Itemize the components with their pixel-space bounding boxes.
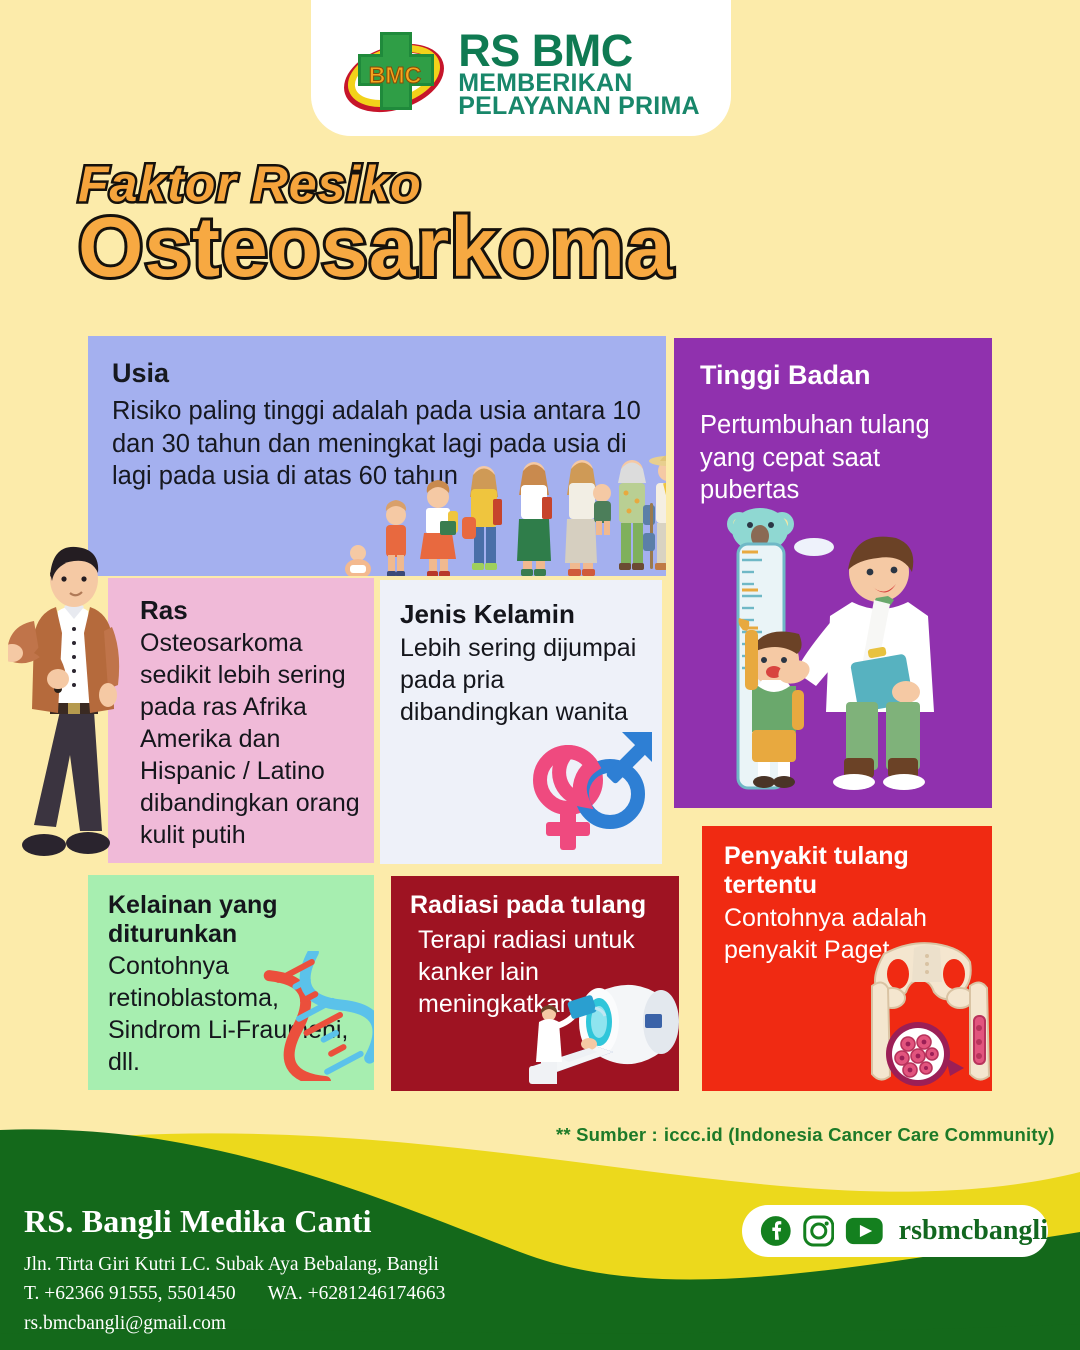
source-note: ** Sumber :iccc.id (Indonesia Cancer Car… <box>556 1124 1055 1146</box>
male-female-gender-symbols-icon <box>524 728 662 858</box>
brand-tagline-line2: PELAYANAN PRIMA <box>458 95 699 118</box>
doctor-measuring-child-height-icon <box>682 500 982 800</box>
card-heading: Kelainan yang diturunkan <box>108 891 364 949</box>
card-heading: Usia <box>112 358 642 389</box>
risk-card-ras[interactable]: Ras Osteosarkoma sedikit lebih sering pa… <box>108 578 374 863</box>
card-body: Osteosarkoma sedikit lebih sering pada r… <box>140 627 362 851</box>
instagram-icon[interactable] <box>803 1213 835 1249</box>
card-body: Lebih sering dijumpai pada pria dibandin… <box>400 632 646 728</box>
brand-name: RS BMC <box>458 30 699 71</box>
card-heading: Penyakit tulang tertentu <box>724 842 982 900</box>
hospital-name: RS. Bangli Medika Canti <box>24 1203 445 1240</box>
card-body: Terapi radiasi untuk kanker lain meningk… <box>410 924 669 1020</box>
source-value: iccc.id (Indonesia Cancer Care Community… <box>664 1124 1055 1145</box>
card-body: Contohnya retinoblastoma, Sindrom Li-Fra… <box>108 950 364 1078</box>
risk-card-penyakit-tulang[interactable]: Penyakit tulang tertentu Contohnya adala… <box>702 826 992 1091</box>
facebook-icon[interactable] <box>760 1213 792 1249</box>
hospital-address: Jln. Tirta Giri Kutri LC. Subak Aya Beba… <box>24 1250 445 1279</box>
card-body: Contohnya adalah penyakit Paget <box>724 902 982 966</box>
brand-logo: BMC RS BMC MEMBERIKAN PELAYANAN PRIMA <box>342 26 699 122</box>
contact-line-phone: T. +62366 91555, 5501450WA. +62812461746… <box>24 1279 445 1308</box>
risk-card-tinggi-badan[interactable]: Tinggi Badan Pertumbuhan tulang yang cep… <box>674 338 992 808</box>
social-handle: rsbmcbangli <box>899 1215 1048 1247</box>
youtube-icon[interactable] <box>845 1215 884 1247</box>
risk-card-usia[interactable]: Usia Risiko paling tinggi adalah pada us… <box>88 336 666 576</box>
hospital-whatsapp: WA. +6281246174663 <box>268 1283 446 1304</box>
svg-text:BMC: BMC <box>369 62 421 88</box>
risk-card-radiasi-tulang[interactable]: Radiasi pada tulang Terapi radiasi untuk… <box>391 876 679 1091</box>
hospital-phone: T. +62366 91555, 5501450 <box>24 1283 236 1304</box>
risk-card-jenis-kelamin[interactable]: Jenis Kelamin Lebih sering dijumpai pada… <box>380 580 662 864</box>
risk-card-kelainan-diturunkan[interactable]: Kelainan yang diturunkan Contohnya retin… <box>88 875 374 1090</box>
title-main: Osteosarkoma <box>78 205 674 291</box>
businessman-leaning-icon <box>8 543 138 868</box>
page-title: Faktor Resiko Osteosarkoma <box>78 158 674 290</box>
card-heading: Ras <box>140 596 362 626</box>
source-label: ** Sumber : <box>556 1124 658 1145</box>
bmc-cross-logo-icon: BMC <box>342 26 446 122</box>
hospital-email: rs.bmcbangli@gmail.com <box>24 1309 445 1338</box>
card-heading: Jenis Kelamin <box>400 600 646 630</box>
card-body: Pertumbuhan tulang yang cepat saat puber… <box>700 409 968 507</box>
card-heading: Radiasi pada tulang <box>410 891 669 920</box>
footer-contact-block: RS. Bangli Medika Canti Jln. Tirta Giri … <box>24 1203 445 1338</box>
header-logo-panel: BMC RS BMC MEMBERIKAN PELAYANAN PRIMA <box>311 0 731 136</box>
card-heading: Tinggi Badan <box>700 360 968 391</box>
social-media-pill[interactable]: rsbmcbangli <box>742 1205 1048 1257</box>
card-body: Risiko paling tinggi adalah pada usia an… <box>112 395 642 493</box>
